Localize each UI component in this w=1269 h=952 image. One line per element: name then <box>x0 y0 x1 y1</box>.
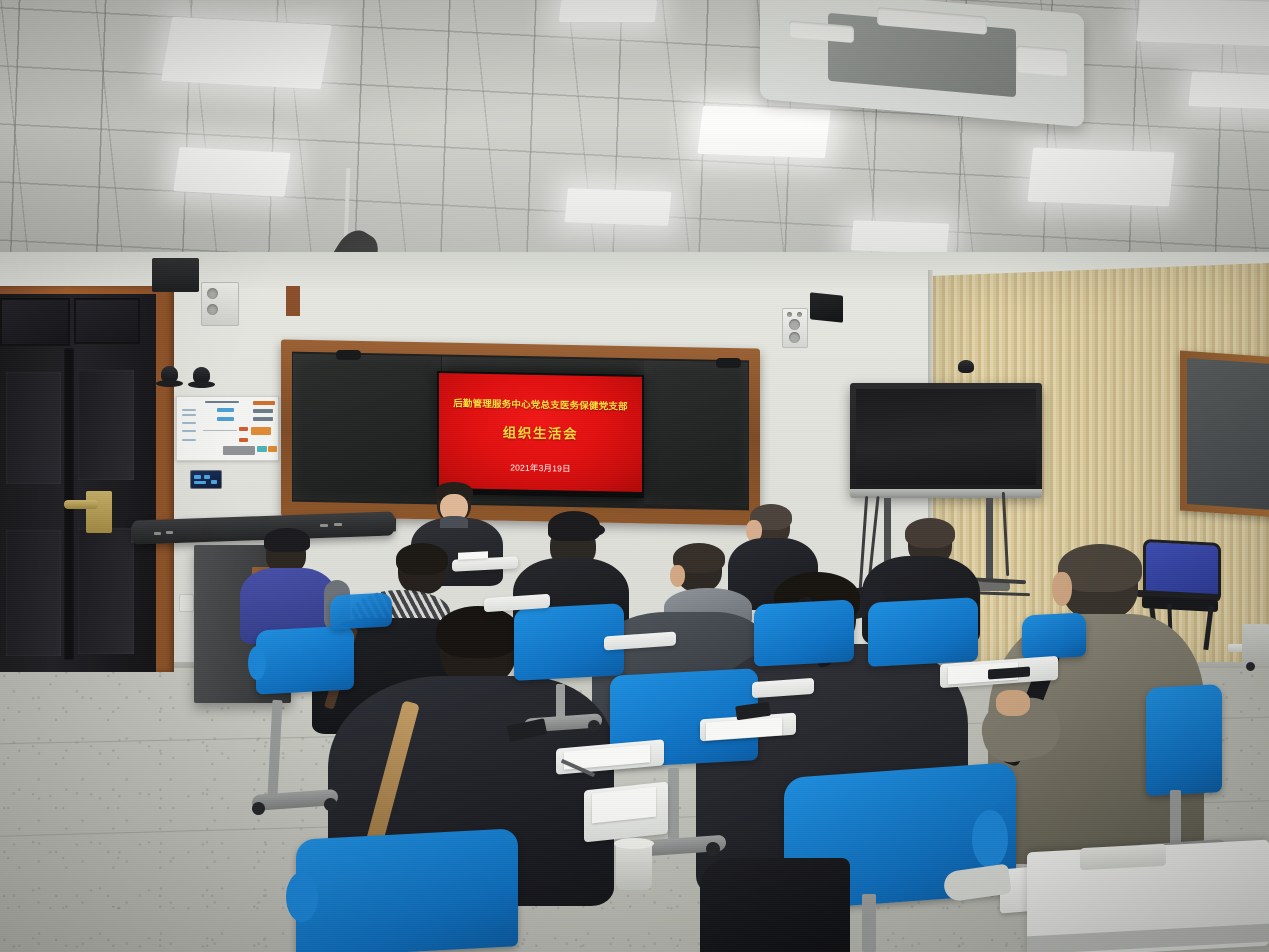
display-stand-leg <box>986 498 993 590</box>
speaker-driver <box>789 332 800 343</box>
speaker-tweeter <box>797 312 802 317</box>
poster-box <box>239 438 248 442</box>
poster-text-line <box>182 422 196 424</box>
poster-box <box>253 401 275 405</box>
wall-poster <box>176 396 279 461</box>
door-glass-panel <box>0 298 70 346</box>
poster-flow-line <box>203 430 237 431</box>
ceiling-speaker <box>810 292 843 322</box>
tablet-arm-chair-back[interactable] <box>1146 684 1222 796</box>
leg <box>700 858 850 952</box>
door-panel <box>6 372 61 484</box>
tablet-arm-chair-back[interactable] <box>868 597 978 667</box>
projection-screen: 后勤管理服务中心党总支医务保健党支部 组织生活会 2021年3月19日 <box>437 371 644 498</box>
poster-box <box>253 409 273 413</box>
slide-date: 2021年3月19日 <box>510 461 571 474</box>
poster-box <box>239 427 248 431</box>
poster-box <box>253 417 273 421</box>
panel-indicator <box>204 475 210 479</box>
podium-control-button[interactable] <box>334 523 342 526</box>
door-panel <box>78 528 134 654</box>
tablet-arm-chair-back[interactable] <box>256 625 354 694</box>
ac-fan-circle <box>207 288 218 299</box>
poster-box <box>268 446 277 452</box>
presenter-collar <box>440 516 468 528</box>
hair <box>436 606 520 658</box>
desk-cable-tray <box>1080 844 1166 871</box>
baseball-cap <box>264 528 310 552</box>
bulletin-board-surface <box>1187 358 1269 510</box>
camera-mount <box>156 380 183 387</box>
chair-armrest <box>248 646 266 680</box>
poster-text-line <box>182 430 196 432</box>
poster-text-line <box>182 439 196 441</box>
door-glass-panel <box>74 298 140 344</box>
panel-indicator <box>194 481 206 484</box>
caster-wheel <box>252 802 265 815</box>
rolling-stand <box>1242 624 1269 666</box>
blackboard-clip-right <box>716 358 741 368</box>
poster-heading-line <box>205 401 239 403</box>
door-handle-plate[interactable] <box>86 491 112 533</box>
caster-wheel <box>588 720 600 732</box>
hand <box>996 690 1030 716</box>
poster-box <box>257 446 267 452</box>
security-camera-icon <box>958 360 974 373</box>
panel-indicator <box>194 475 201 479</box>
face <box>670 565 685 587</box>
poster-text-line <box>182 409 196 411</box>
cup-on-floor <box>616 842 652 890</box>
tablet-arm-chair-back[interactable] <box>330 592 392 629</box>
chair-leg <box>862 894 876 952</box>
door-panel <box>6 530 61 656</box>
blackboard-panel-right <box>644 360 748 506</box>
poster-box <box>223 446 255 455</box>
chair-leg <box>668 768 679 846</box>
wall-control-panel[interactable] <box>190 470 222 489</box>
poster-box <box>217 417 234 421</box>
meeting-room-scene: 后勤管理服务中心党总支医务保健党支部 组织生活会 2021年3月19日 <box>0 0 1269 952</box>
speaker-driver <box>789 319 800 330</box>
ac-fan-circle <box>207 304 218 315</box>
chair-armrest <box>972 810 1008 868</box>
chair-armrest <box>286 872 318 922</box>
caster-wheel <box>324 798 337 811</box>
speaker-tweeter <box>787 312 792 317</box>
projected-slide: 后勤管理服务中心党总支医务保健党支部 组织生活会 2021年3月19日 <box>439 373 642 492</box>
poster-box <box>251 427 271 435</box>
poster-text-line <box>182 414 196 416</box>
podium-control-button[interactable] <box>154 532 161 535</box>
wall-ac-unit <box>201 282 239 326</box>
blackboard-panel-left <box>293 354 441 503</box>
slide-subtitle: 组织生活会 <box>503 421 579 442</box>
podium-control-button[interactable] <box>320 524 328 527</box>
wall-speaker-left <box>152 258 199 292</box>
entrance-door[interactable] <box>0 294 156 672</box>
flat-panel-display-screen[interactable] <box>856 389 1036 485</box>
tablet-arm-chair-back[interactable] <box>1022 612 1086 659</box>
tablet-arm-chair-back[interactable] <box>754 599 854 666</box>
camera-mount <box>188 381 215 388</box>
wall-outlet <box>179 594 194 612</box>
door-handle-lever[interactable] <box>64 500 98 509</box>
door-panel <box>78 370 134 480</box>
slide-title: 后勤管理服务中心党总支医务保健党支部 <box>453 395 628 412</box>
wall-speaker-right <box>782 308 808 348</box>
door-frame-top-edge <box>286 286 300 316</box>
caster-wheel <box>706 842 720 856</box>
blackboard-clip-left <box>336 350 361 360</box>
hair <box>396 543 448 575</box>
poster-box <box>217 408 234 412</box>
cup-rim <box>614 838 654 849</box>
caster-wheel <box>1246 662 1255 671</box>
cap-brim <box>583 524 605 536</box>
face <box>1052 572 1072 606</box>
tablet-arm-chair-back[interactable] <box>296 828 518 952</box>
hair <box>905 518 955 548</box>
panel-indicator <box>211 480 217 484</box>
podium-control-button[interactable] <box>166 531 173 534</box>
